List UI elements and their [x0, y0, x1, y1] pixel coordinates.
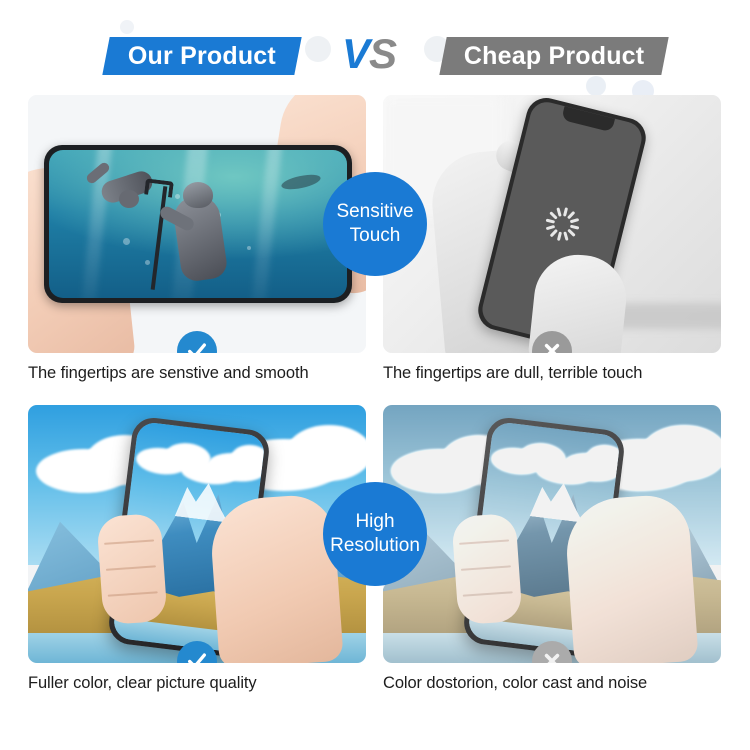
our-product-banner: Our Product [102, 37, 301, 75]
row-sensitive-touch: The fingertips are senstive and smooth [28, 95, 722, 383]
caption-ours-resolution: Fuller color, clear picture quality [28, 674, 366, 693]
loading-spinner-icon [541, 203, 582, 244]
cross-icon [542, 341, 562, 353]
notch [561, 106, 615, 132]
check-icon [186, 340, 208, 353]
our-product-label: Our Product [128, 42, 276, 71]
cell-cheap-resolution: Color dostorion, color cast and noise [383, 405, 721, 693]
row-high-resolution: Fuller color, clear picture quality [28, 405, 722, 693]
badge-line-1: Sensitive [336, 200, 413, 224]
comparison-infographic: Our Product VS Cheap Product [0, 0, 750, 750]
hand-holding-phone [208, 493, 343, 663]
game-photo [28, 95, 366, 353]
decorative-circle [305, 36, 331, 62]
badge-line-1: High [355, 510, 394, 534]
grayscale-photo [383, 95, 721, 353]
photo-panel-game [28, 95, 366, 353]
phone-landscape [44, 145, 352, 303]
photo-panel-mountain-vivid [28, 405, 366, 663]
check-icon [186, 650, 208, 663]
decorative-circle [586, 76, 606, 96]
fingers [451, 513, 522, 625]
header: Our Product VS Cheap Product [0, 0, 750, 95]
caption-cheap-resolution: Color dostorion, color cast and noise [383, 674, 721, 693]
cross-icon [542, 651, 562, 663]
badge-high-resolution: High Resolution [323, 482, 427, 586]
vs-label: VS [342, 30, 396, 78]
badge-sensitive-touch: Sensitive Touch [323, 172, 427, 276]
vs-v: V [342, 30, 369, 77]
phone-screen-game [49, 150, 347, 298]
fingers [96, 513, 167, 625]
cell-ours-touch: The fingertips are senstive and smooth [28, 95, 366, 383]
caption-ours-touch: The fingertips are senstive and smooth [28, 364, 366, 383]
hand-holding-phone [563, 493, 698, 663]
cell-cheap-touch: The fingertips are dull, terrible touch [383, 95, 721, 383]
photo-panel-loading [383, 95, 721, 353]
badge-line-2: Resolution [330, 534, 420, 558]
cheap-product-label: Cheap Product [464, 42, 644, 71]
fish-silhouette [280, 172, 322, 192]
trident-icon [151, 186, 168, 290]
cell-ours-resolution: Fuller color, clear picture quality [28, 405, 366, 693]
badge-line-2: Touch [350, 224, 401, 248]
cheap-product-banner: Cheap Product [439, 37, 668, 75]
photo-panel-mountain-washed [383, 405, 721, 663]
decorative-circle [120, 20, 134, 34]
comparison-grid: The fingertips are senstive and smooth [0, 95, 750, 693]
caption-cheap-touch: The fingertips are dull, terrible touch [383, 364, 721, 383]
vs-s: S [369, 30, 396, 77]
